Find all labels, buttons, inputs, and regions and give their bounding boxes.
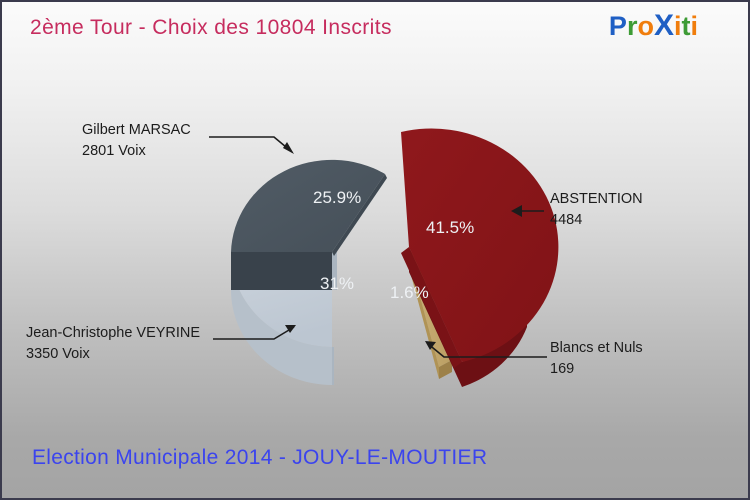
footer-title: Election Municipale 2014 - JOUY-LE-MOUTI… [32,446,487,470]
slice-abstention-top [401,129,558,362]
slice-marsac[interactable] [231,160,387,290]
slice-abstention[interactable] [401,129,558,387]
callout-blancs-name: Blancs et Nuls [550,340,643,356]
slice-marsac-side [231,252,332,290]
slice-marsac-top [231,160,385,252]
chart-canvas: 2ème Tour - Choix des 10804 Inscrits Pro… [0,0,750,500]
callout-marsac-name: Gilbert MARSAC [82,122,191,138]
slice-label-blancs: 1.6% [390,283,429,303]
callout-abstention: ABSTENTION 4484 [550,189,643,231]
callout-abstention-name: ABSTENTION [550,191,643,207]
callout-blancs-value: 169 [550,359,643,380]
pie-chart-3d [2,2,750,500]
callout-veyrine-name: Jean-Christophe VEYRINE [26,325,200,341]
slice-label-abstention: 41.5% [426,218,474,238]
slice-veyrine-edge [332,347,334,385]
slice-label-veyrine: 31% [320,274,354,294]
leader-marsac [209,137,292,152]
callout-veyrine: Jean-Christophe VEYRINE 3350 Voix [26,323,200,365]
callout-veyrine-value: 3350 Voix [26,344,200,365]
callout-abstention-value: 4484 [550,210,643,231]
callout-marsac-value: 2801 Voix [82,141,191,162]
slice-label-marsac: 25.9% [313,188,361,208]
callout-blancs: Blancs et Nuls 169 [550,338,643,380]
arrow-marsac [283,142,294,154]
callout-marsac: Gilbert MARSAC 2801 Voix [82,120,191,162]
